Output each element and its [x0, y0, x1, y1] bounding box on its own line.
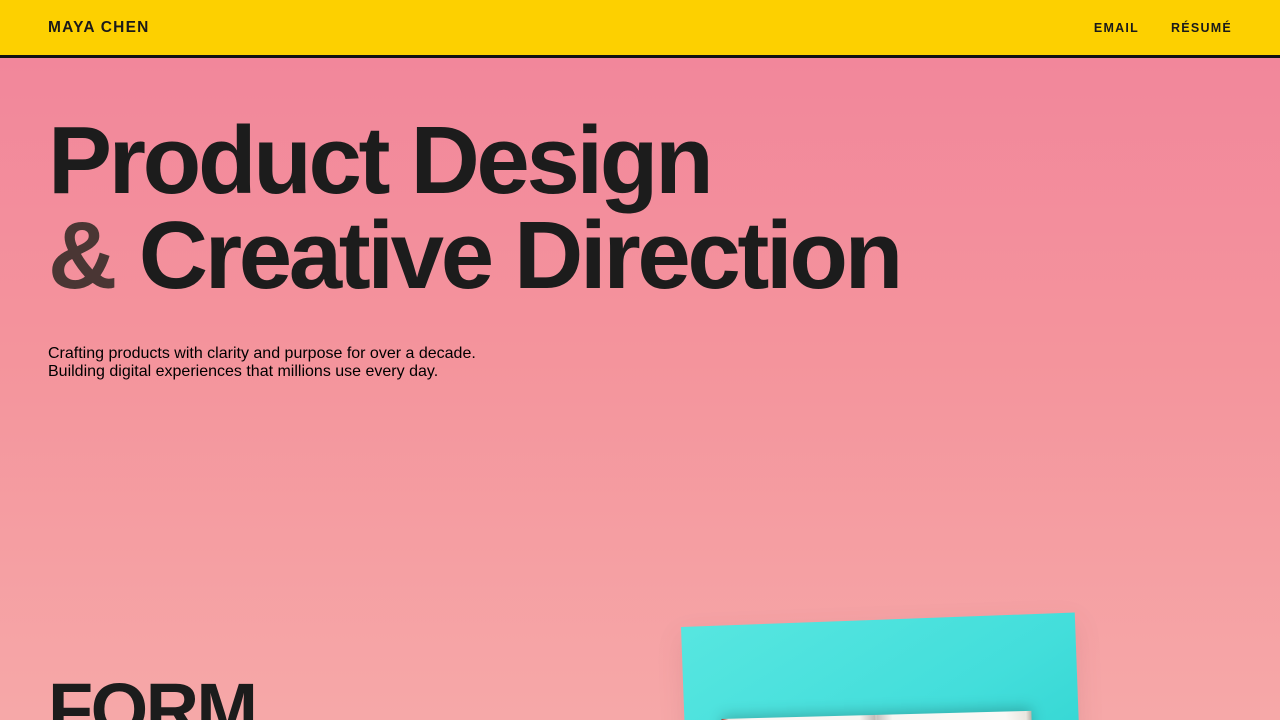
brand-logo[interactable]: MAYA CHEN — [48, 19, 150, 37]
headline-line-2: & Creative Direction — [48, 208, 1280, 303]
hero-section: Product Design & Creative Direction Craf… — [0, 61, 1280, 720]
magazine-spread-image: 03 / ISSUE SPRING The ZIN — [721, 711, 1036, 720]
nav-link-resume[interactable]: RÉSUMÉ — [1171, 21, 1232, 35]
showcase-card[interactable]: 03 / ISSUE SPRING The ZIN — [681, 613, 1086, 720]
subtitle-line-2: Building digital experiences that millio… — [48, 363, 1280, 381]
portfolio-page: MAYA CHEN EMAIL RÉSUMÉ Product Design & … — [0, 0, 1280, 720]
hero-headline: Product Design & Creative Direction — [48, 113, 1280, 303]
hero-content: Product Design & Creative Direction Craf… — [48, 61, 1280, 381]
nav-link-email[interactable]: EMAIL — [1094, 21, 1139, 35]
headline-ampersand: & — [48, 202, 115, 309]
headline-line-1: Product Design — [48, 113, 1280, 208]
magazine-left-page: 03 / ISSUE SPRING The ZIN — [721, 715, 881, 720]
primary-nav: EMAIL RÉSUMÉ — [1094, 21, 1232, 35]
subtitle-line-1: Crafting products with clarity and purpo… — [48, 345, 1280, 363]
section-heading-form: FORM — [48, 673, 256, 720]
magazine-right-page: SPRING 21 PAGE 14 — [876, 711, 1036, 720]
site-header: MAYA CHEN EMAIL RÉSUMÉ — [0, 0, 1280, 58]
headline-line-2-text: Creative Direction — [139, 202, 900, 309]
